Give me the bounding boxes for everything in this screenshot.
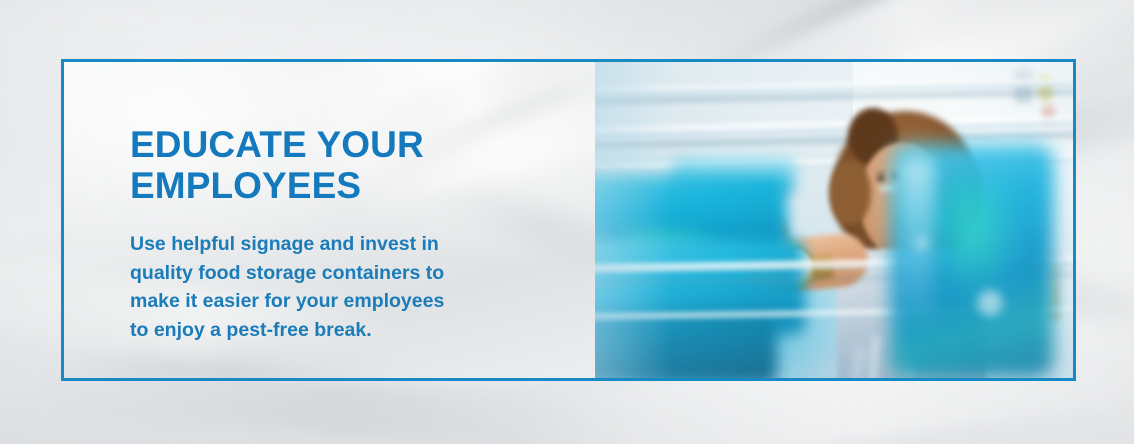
text-content: EDUCATE YOUR EMPLOYEES Use helpful signa… <box>64 62 595 344</box>
body-line-3: make it easier for your employees <box>130 287 522 316</box>
banner-photo <box>595 62 1073 378</box>
banner-card: EDUCATE YOUR EMPLOYEES Use helpful signa… <box>61 59 1076 381</box>
photo-vignette <box>595 62 1073 378</box>
body-line-2: quality food storage containers to <box>130 259 522 288</box>
headline: EDUCATE YOUR EMPLOYEES <box>130 124 550 206</box>
headline-line-2: EMPLOYEES <box>130 165 550 206</box>
body-line-4: to enjoy a pest-free break. <box>130 316 522 345</box>
body-line-1: Use helpful signage and invest in <box>130 230 522 259</box>
headline-line-1: EDUCATE YOUR <box>130 124 550 165</box>
banner-stage: EDUCATE YOUR EMPLOYEES Use helpful signa… <box>0 0 1134 444</box>
text-panel: EDUCATE YOUR EMPLOYEES Use helpful signa… <box>64 62 595 378</box>
body-copy: Use helpful signage and invest in qualit… <box>130 230 522 344</box>
